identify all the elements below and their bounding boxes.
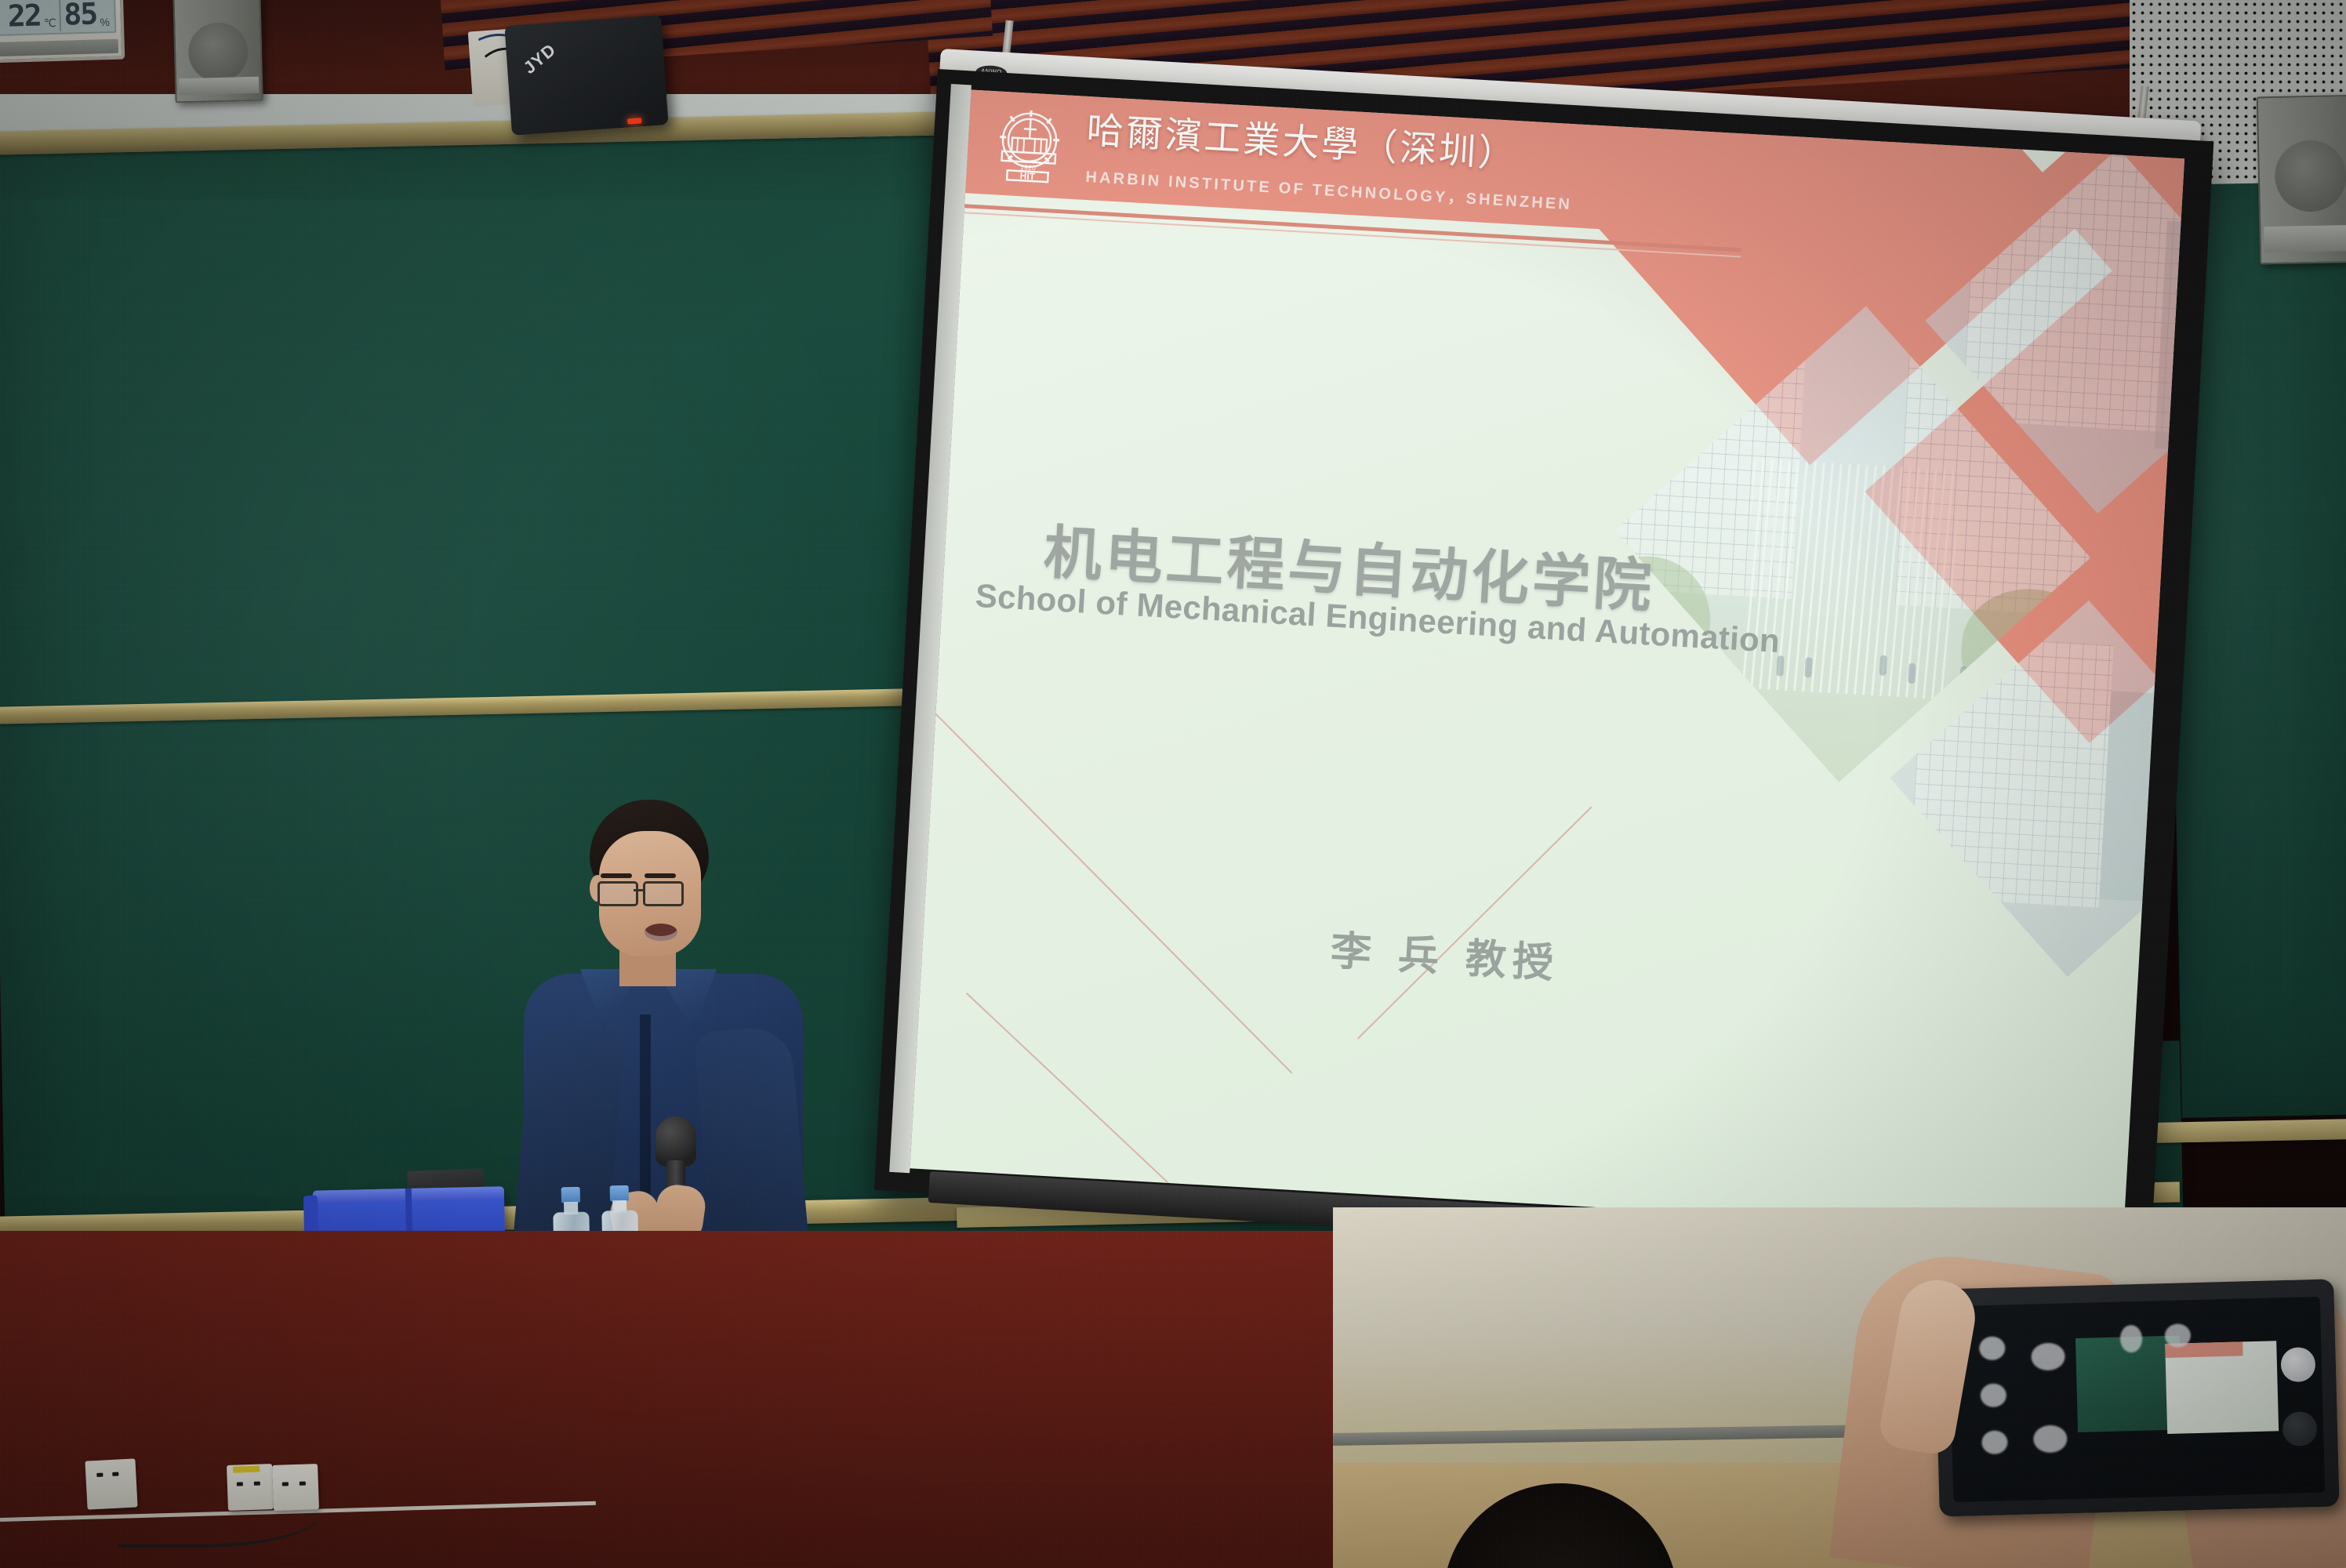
eyeglasses-lens-left [597,881,638,906]
bottle-cap [561,1187,580,1203]
accent-line-1 [910,683,1292,1074]
presenter-eyebrow-left [601,873,632,878]
humidity-unit: % [100,16,110,31]
lcd-divider [59,0,61,31]
projection-screen[interactable]: 1920 HIT 哈爾濱工業大學（深圳） HARBIN INSTITUTE OF… [874,69,2214,1262]
slide-speaker-name: 李 兵 教授 [1329,917,1561,989]
digital-thermo-hygrometer: 22 ℃ 85 % [0,0,125,63]
jyd-wall-device: JYD [504,15,668,136]
power-led-icon [627,118,641,124]
eyeglasses-bridge [634,889,645,891]
wall-speaker-left [172,0,263,103]
speaker-grille [179,76,259,95]
audience-smartphone[interactable] [1934,1279,2339,1516]
smartphone-viewfinder [1948,1297,2325,1502]
lecture-hall-photo: 22 ℃ 85 % JYD ANWO [0,0,2346,1568]
accent-line-3 [966,993,1173,1187]
outlet-warning-sticker [233,1466,260,1473]
temperature-value: 22 [7,0,41,31]
screen-surface: 1920 HIT 哈爾濱工業大學（深圳） HARBIN INSTITUTE OF… [910,89,2184,1237]
fountain-jets [1741,458,1959,699]
microphone-head-icon [655,1116,696,1167]
svg-text:HIT: HIT [1019,170,1036,182]
presentation-slide: 1920 HIT 哈爾濱工業大學（深圳） HARBIN INSTITUTE OF… [910,89,2184,1237]
speaker-cone-icon [2274,140,2346,212]
presenter-eyebrow-right [645,873,676,878]
thermo-base [0,39,118,57]
chalk-rail-right [2152,1119,2346,1143]
presenter-mouth [645,924,677,941]
speaker-grille [2264,225,2346,253]
speaker-cone-icon [187,22,248,82]
eyeglasses-lens-right [643,881,684,906]
temperature-unit: ℃ [44,16,56,33]
bottle-cap [610,1185,629,1201]
hit-gear-building-logo: 1920 HIT [986,102,1072,193]
viewfinder-slide [2165,1341,2279,1434]
thermo-lcd-display: 22 ℃ 85 % [0,0,116,36]
humidity-value: 85 [64,0,97,30]
wall-speaker-right [2257,95,2346,265]
jyd-brand-label: JYD [520,39,561,78]
